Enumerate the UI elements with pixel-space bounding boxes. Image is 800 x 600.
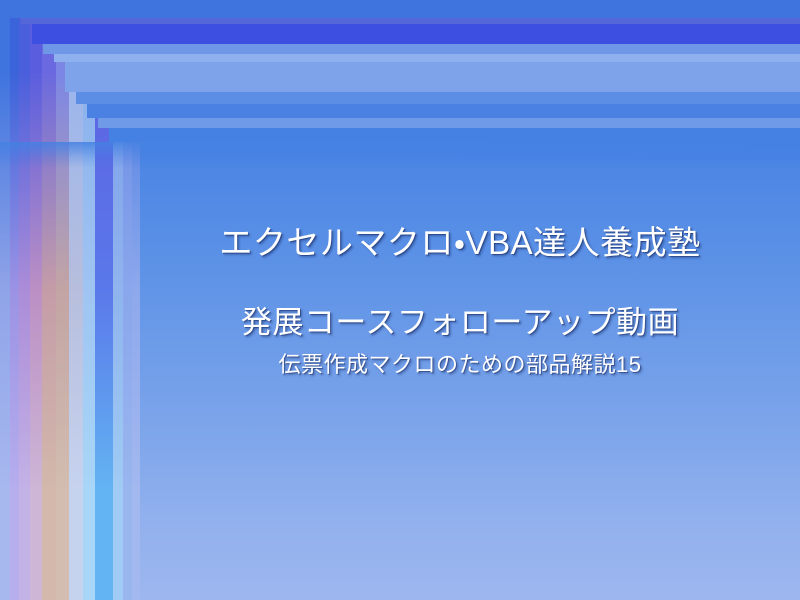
- title-slide: エクセルマクロ・VBA達人養成塾 発展コースフォローアップ動画 伝票作成マクロの…: [0, 0, 800, 600]
- frame-corner-segment: [109, 128, 800, 142]
- frame-corner-segment: [32, 24, 800, 44]
- frame-stripe-left: [10, 0, 19, 600]
- frame-corner-segment: [10, 0, 800, 18]
- frame-corner-segment: [65, 62, 800, 92]
- frame-corner-segment: [76, 92, 800, 104]
- frame-stripe-left: [30, 0, 42, 600]
- frame-corner-segment: [87, 104, 800, 118]
- decorative-corner-frames: [0, 0, 800, 600]
- frame-corner-segment: [54, 54, 800, 62]
- frame-corner-segment: [43, 44, 800, 54]
- frame-stripe-left: [42, 0, 56, 600]
- frame-stripe-left: [0, 0, 10, 600]
- frame-stripe-left: [19, 0, 30, 600]
- frame-body-seam: [0, 142, 800, 168]
- frame-corner-segment: [98, 118, 800, 128]
